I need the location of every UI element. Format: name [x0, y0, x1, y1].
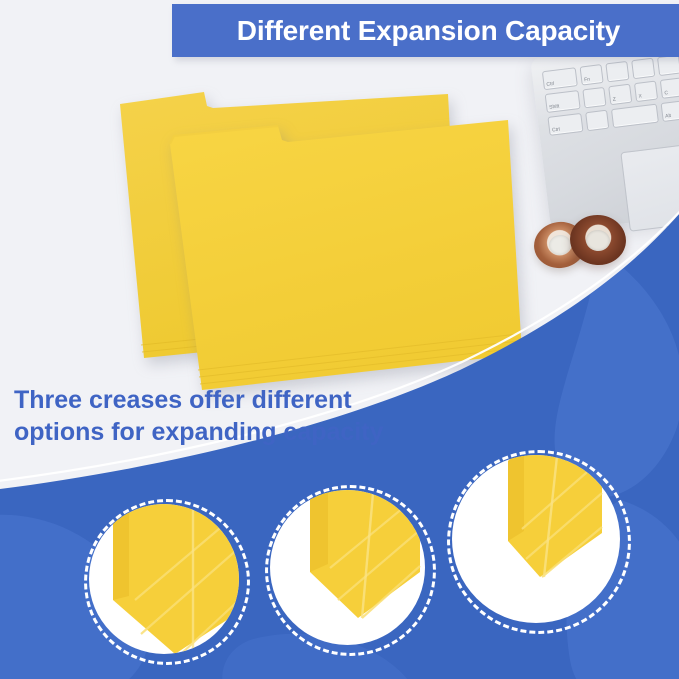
caption-block: Three creases offer different options fo…	[14, 385, 434, 449]
key-fn: Fn	[580, 64, 604, 86]
crease-circle-ring-3	[447, 450, 631, 634]
laptop-trackpad	[620, 138, 679, 231]
key-win	[585, 110, 609, 132]
key-blank-1	[605, 61, 629, 83]
key-blank-3	[657, 55, 679, 77]
crease-circle-ring-1	[84, 499, 250, 665]
title-banner: Different Expansion Capacity	[172, 4, 679, 57]
caption-line-1: Three creases offer different	[14, 385, 434, 417]
front-folder-body	[170, 120, 522, 390]
key-z: Z	[608, 84, 632, 106]
front-folder	[160, 110, 530, 410]
page-title: Different Expansion Capacity	[231, 15, 620, 47]
key-x: X	[634, 81, 658, 103]
key-blank-5	[582, 87, 606, 109]
caption-line-2: options for expanding capacity	[14, 417, 434, 449]
infographic-canvas: Ctrl Fn Shift Z X C Ctrl Alt	[0, 0, 679, 679]
key-alt: Alt	[661, 100, 679, 122]
laptop-image: Ctrl Fn Shift Z X C Ctrl Alt	[530, 31, 679, 233]
crease-circle-ring-2	[265, 485, 436, 656]
key-blank-2	[631, 58, 655, 80]
key-c: C	[660, 77, 679, 99]
